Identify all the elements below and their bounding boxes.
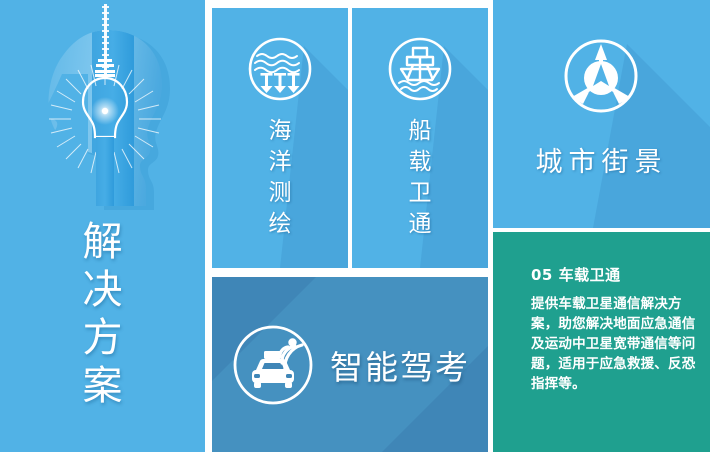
tile-drive-label: 智能驾考 <box>330 341 470 389</box>
tile-shipborne-satcom[interactable]: 船 载 卫 通 <box>352 8 488 268</box>
hero-title-char-1: 解 <box>0 218 205 266</box>
tile-ocean-label-char-1: 海 <box>212 116 348 147</box>
ship-satellite-icon <box>387 36 453 102</box>
hero-title-char-3: 方 <box>0 314 205 362</box>
tile-ocean-survey[interactable]: 海 洋 测 绘 <box>212 8 348 268</box>
hero-solution-panel[interactable]: 解 决 方 案 <box>0 0 205 452</box>
solution-overview-poster: 解 决 方 案 <box>0 0 710 452</box>
hero-title-char-2: 决 <box>0 266 205 314</box>
tile-city-street-view[interactable]: 城市街景 <box>493 0 710 228</box>
tile-ocean-label-char-2: 洋 <box>212 147 348 178</box>
tile-ship-label-char-1: 船 <box>352 116 488 147</box>
hero-title-char-4: 案 <box>0 362 205 410</box>
tile-ocean-label-char-4: 绘 <box>212 209 348 240</box>
tile-smart-driving-test[interactable]: 智能驾考 <box>212 277 488 452</box>
smart-car-signal-icon <box>230 322 316 408</box>
tile-ocean-label: 海 洋 测 绘 <box>212 116 348 240</box>
tile-ship-label-char-4: 通 <box>352 209 488 240</box>
head-lightbulb-illustration <box>0 4 205 222</box>
street-view-navigation-icon <box>561 36 641 116</box>
info-panel-vehicle-satcom[interactable]: 05 车载卫通 提供车载卫星通信解决方案，助您解决地面应急通信及运动中卫星宽带通… <box>493 232 710 452</box>
info-panel-title: 05 车载卫通 <box>531 264 694 285</box>
tile-ocean-label-char-3: 测 <box>212 178 348 209</box>
tile-ship-label: 船 载 卫 通 <box>352 116 488 240</box>
tile-ship-label-char-2: 载 <box>352 147 488 178</box>
tile-ship-label-char-3: 卫 <box>352 178 488 209</box>
tile-street-label: 城市街景 <box>493 140 710 179</box>
info-panel-body: 提供车载卫星通信解决方案，助您解决地面应急通信及运动中卫星宽带通信等问题，适用于… <box>531 294 703 394</box>
hero-title: 解 决 方 案 <box>0 218 205 410</box>
ocean-survey-icon <box>247 36 313 102</box>
